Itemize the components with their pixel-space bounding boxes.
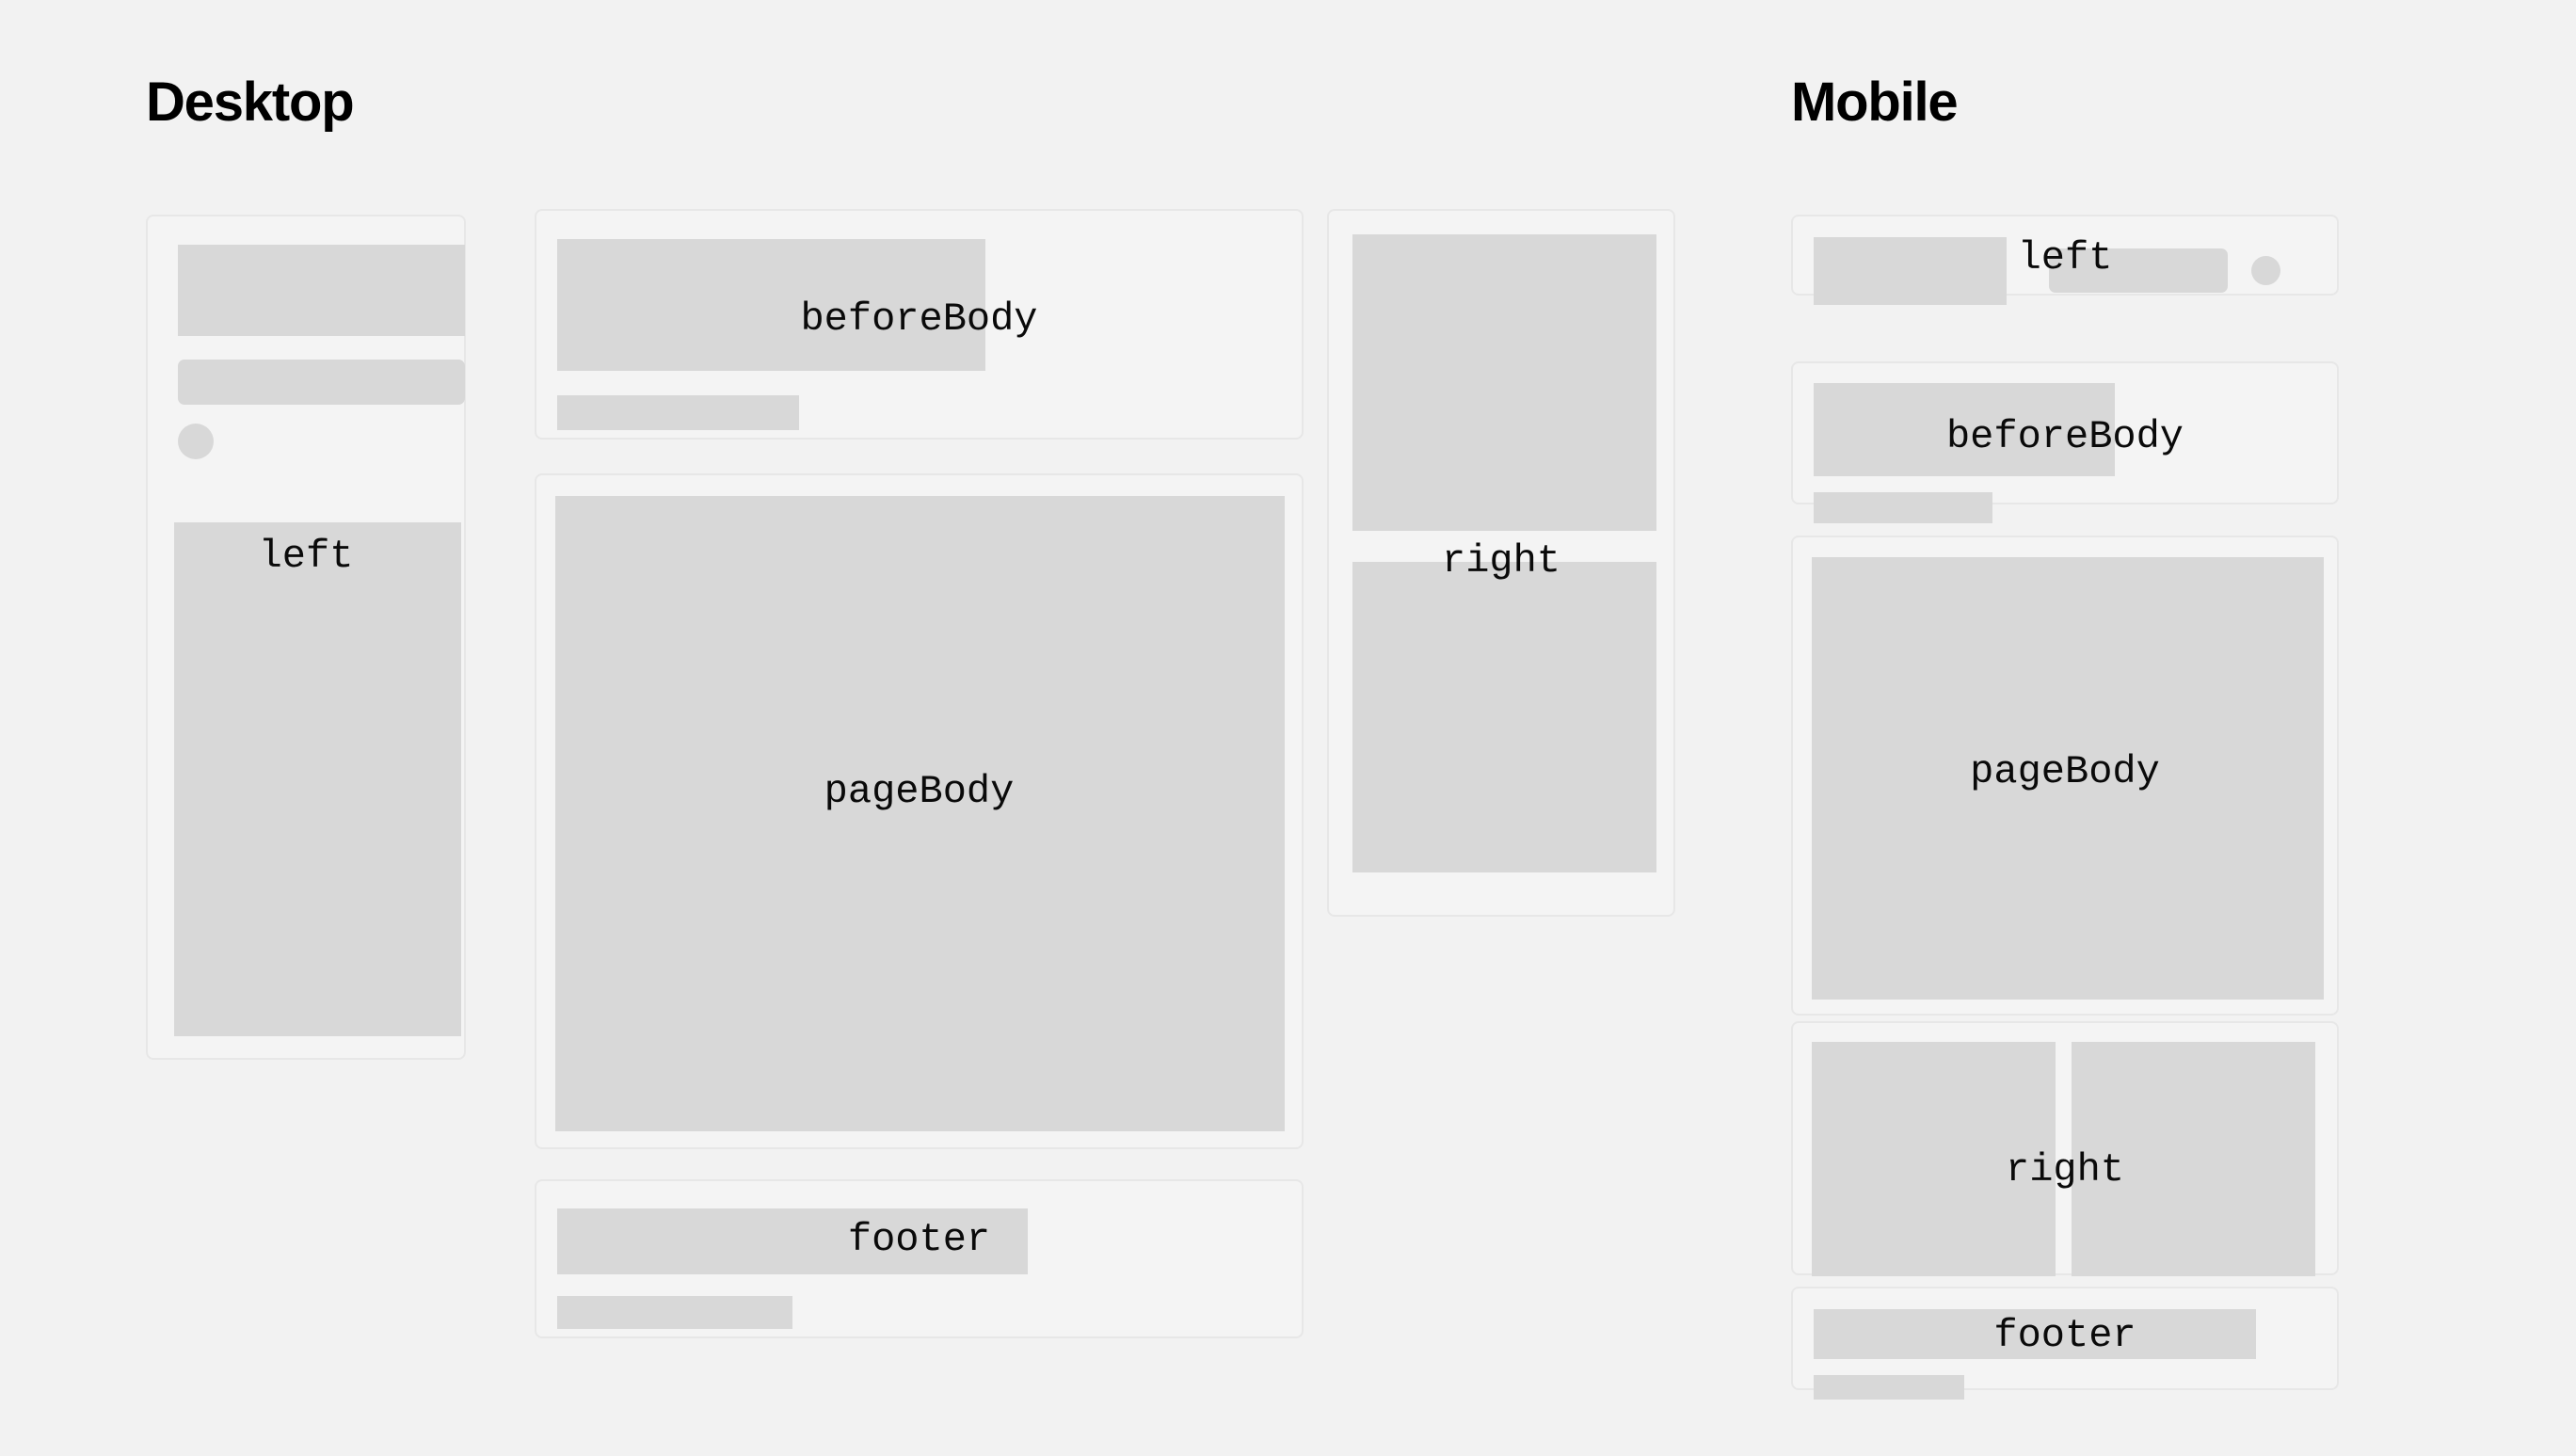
- skeleton-block: [555, 496, 1285, 1131]
- skeleton-block: [1814, 1375, 1964, 1400]
- mobile-right-panel[interactable]: [1791, 1021, 2339, 1275]
- skeleton-block: [557, 1296, 792, 1329]
- desktop-before-body-panel[interactable]: [535, 209, 1304, 440]
- mobile-before-body-panel[interactable]: [1791, 361, 2339, 504]
- mobile-section-title: Mobile: [1791, 75, 1957, 130]
- skeleton-block: [178, 360, 465, 405]
- wireframe-stage: Desktop left beforeBody pageBody right f…: [0, 0, 2576, 1456]
- skeleton-block: [1814, 383, 2115, 476]
- skeleton-block: [557, 239, 985, 371]
- skeleton-avatar-circle: [2251, 256, 2280, 285]
- desktop-section-title: Desktop: [146, 75, 353, 130]
- skeleton-block: [557, 1208, 1028, 1274]
- mobile-footer-panel[interactable]: [1791, 1287, 2339, 1390]
- skeleton-block: [1352, 234, 1656, 531]
- skeleton-block: [1812, 557, 2324, 1000]
- skeleton-block: [1814, 237, 2007, 305]
- mobile-left-panel[interactable]: [1791, 215, 2339, 296]
- mobile-page-body-panel[interactable]: [1791, 536, 2339, 1016]
- skeleton-block: [1812, 1042, 2056, 1276]
- skeleton-block: [178, 245, 465, 336]
- skeleton-block: [557, 395, 799, 430]
- skeleton-block: [1814, 1309, 2256, 1359]
- desktop-footer-panel[interactable]: [535, 1179, 1304, 1338]
- desktop-left-panel[interactable]: [146, 215, 466, 1060]
- skeleton-block: [1814, 492, 1992, 523]
- desktop-right-panel[interactable]: [1327, 209, 1675, 917]
- skeleton-block: [2049, 248, 2228, 293]
- skeleton-block: [1352, 562, 1656, 872]
- skeleton-block: [174, 522, 461, 1036]
- desktop-page-body-panel[interactable]: [535, 473, 1304, 1149]
- skeleton-avatar-circle: [178, 424, 214, 459]
- skeleton-block: [2072, 1042, 2315, 1276]
